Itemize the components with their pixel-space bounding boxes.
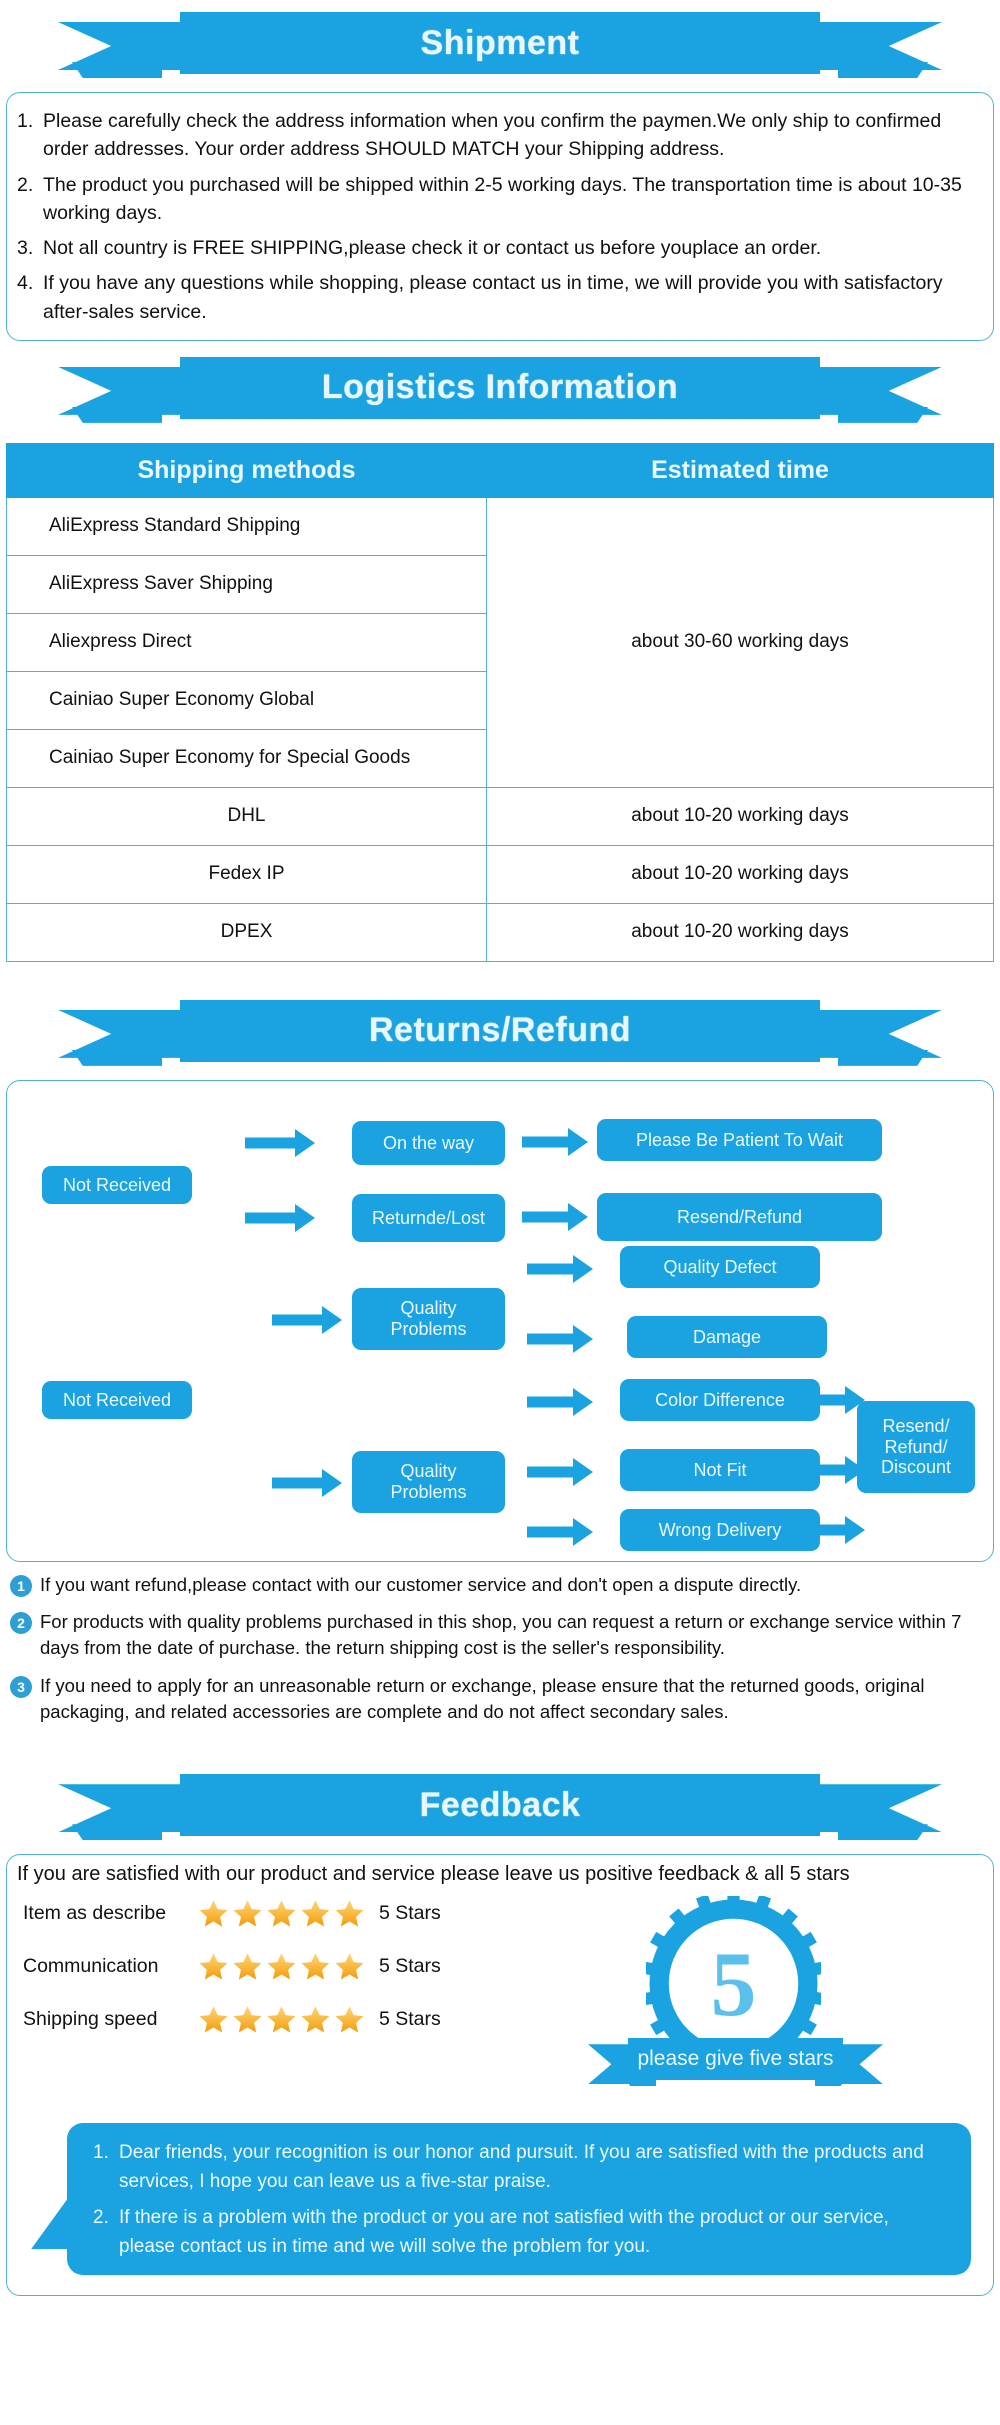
flow-node-quality-problems-2: Quality Problems [352,1451,505,1513]
ribbon-fold-right-icon [838,1050,928,1066]
returns-flow-card: Not Received Not Received On the way Ret… [6,1080,994,1562]
table-header-row: Shipping methods Estimated time [7,443,994,497]
arrow-right-icon [245,1129,317,1157]
star-icon [300,1951,331,1982]
star-icon [232,1898,263,1929]
flow-node-not-fit: Not Fit [620,1449,820,1491]
list-item: Not all country is FREE SHIPPING,please … [17,234,979,262]
cell-method: Aliexpress Direct [7,613,487,671]
cell-time: about 10-20 working days [487,903,994,961]
logistics-banner-plate: Logistics Information [180,357,820,419]
shipment-banner: Shipment [0,0,1000,92]
arrow-right-icon [272,1306,344,1334]
shipment-card: Please carefully check the address infor… [6,92,994,341]
ribbon-fold-right-icon [838,1824,928,1840]
star-icon [334,1898,365,1929]
star-icon [300,1898,331,1929]
rating-value: 5 Stars [379,1955,441,1978]
rating-label: Item as describe [23,1902,198,1925]
ribbon-fold-left-icon [72,407,162,423]
rating-value: 5 Stars [379,2008,441,2031]
rating-value: 5 Stars [379,1902,441,1925]
arrow-right-icon [527,1519,595,1545]
rating-row-item-as-describe: Item as describe 5 Stars [23,1898,560,1929]
cell-method: Fedex IP [7,845,487,903]
feedback-banner: Feedback [0,1762,1000,1854]
note-number-badge: 1 [10,1575,32,1597]
flow-node-not-received-1: Not Received [42,1166,192,1204]
returns-banner-plate: Returns/Refund [180,1000,820,1062]
table-row: AliExpress Standard Shipping about 30-60… [7,497,994,555]
logistics-banner: Logistics Information [0,345,1000,437]
shipment-section: Shipment Please carefully check the addr… [0,0,1000,341]
arrow-right-icon [527,1459,595,1485]
note-number-badge: 2 [10,1612,32,1634]
feedback-section: Feedback If you are satisfied with our p… [0,1762,1000,2296]
ribbon-fold-right-icon [838,62,928,78]
star-rating-group [198,2004,365,2035]
star-icon [198,2004,229,2035]
flow-node-color-difference: Color Difference [620,1379,820,1421]
rating-label: Communication [23,1955,198,1978]
cell-method: AliExpress Saver Shipping [7,555,487,613]
star-icon [266,1951,297,1982]
feedback-body: Item as describe 5 Stars Communication [7,1890,993,2105]
arrow-right-icon [245,1204,317,1232]
list-item: Please carefully check the address infor… [17,107,979,164]
returns-flowchart: Not Received Not Received On the way Ret… [7,1081,993,1561]
arrow-right-icon [527,1389,595,1415]
rating-label: Shipping speed [23,2008,198,2031]
returns-banner-title: Returns/Refund [369,1011,631,1050]
feedback-bubble: Dear friends, your recognition is our ho… [67,2123,971,2275]
table-row: Fedex IP about 10-20 working days [7,845,994,903]
flow-node-resend-refund-discount: Resend/ Refund/ Discount [857,1401,975,1493]
flow-node-wrong-delivery: Wrong Delivery [620,1509,820,1551]
star-icon [198,1951,229,1982]
feedback-banner-title: Feedback [420,1786,581,1825]
star-icon [266,1898,297,1929]
list-item: Dear friends, your recognition is our ho… [93,2139,949,2196]
star-icon [232,2004,263,2035]
arrow-right-icon [522,1129,590,1155]
flow-node-quality-defect: Quality Defect [620,1246,820,1288]
arrow-right-icon [527,1326,595,1352]
flow-node-not-received-2: Not Received [42,1381,192,1419]
rating-row-communication: Communication 5 Stars [23,1951,560,1982]
cell-grouped-time: about 30-60 working days [487,497,994,787]
star-icon [334,1951,365,1982]
ribbon-fold-right-icon [838,407,928,423]
cell-time: about 10-20 working days [487,845,994,903]
returns-notes: 1 If you want refund,please contact with… [6,1572,994,1725]
shipment-banner-plate: Shipment [180,12,820,74]
table-row: DPEX about 10-20 working days [7,903,994,961]
ribbon-fold-left-icon [72,62,162,78]
note-text: If you want refund,please contact with o… [40,1572,801,1598]
ribbon-fold-left-icon [72,1050,162,1066]
note-text: If you need to apply for an unreasonable… [40,1673,994,1726]
returns-section: Returns/Refund Not Received Not Received… [0,988,1000,1725]
star-icon [334,2004,365,2035]
star-rating-group [198,1898,365,1929]
column-header-estimated-time: Estimated time [487,443,994,497]
cell-method: Cainiao Super Economy Global [7,671,487,729]
arrow-right-icon [527,1256,595,1282]
flow-node-returned-lost: Returnde/Lost [352,1194,505,1242]
table-row: DHL about 10-20 working days [7,787,994,845]
list-item: If there is a problem with the product o… [93,2204,949,2261]
shipment-banner-title: Shipment [421,24,580,63]
list-item: The product you purchased will be shippe… [17,171,979,228]
flow-node-on-the-way: On the way [352,1121,505,1165]
flow-node-resend-refund: Resend/Refund [597,1193,882,1241]
star-icon [266,2004,297,2035]
note-item: 3 If you need to apply for an unreasonab… [6,1673,994,1726]
feedback-bubble-wrap: Dear friends, your recognition is our ho… [67,2123,971,2275]
note-item: 1 If you want refund,please contact with… [6,1572,994,1598]
cell-time: about 10-20 working days [487,787,994,845]
feedback-ratings: Item as describe 5 Stars Communication [15,1890,560,2105]
cell-method: AliExpress Standard Shipping [7,497,487,555]
five-stars-ribbon-text: please give five stars [628,2038,843,2080]
arrow-right-icon [815,1517,867,1543]
logistics-section: Logistics Information Shipping methods E… [0,345,1000,962]
star-icon [300,2004,331,2035]
star-icon [232,1951,263,1982]
ribbon-fold-left-icon [72,1824,162,1840]
list-item: If you have any questions while shopping… [17,269,979,326]
arrow-right-icon [272,1469,344,1497]
logistics-table: Shipping methods Estimated time AliExpre… [6,443,994,962]
logistics-banner-title: Logistics Information [322,368,678,407]
five-stars-ribbon: please give five stars [588,2038,883,2090]
note-text: For products with quality problems purch… [40,1609,994,1662]
cell-method: DHL [7,787,487,845]
note-number-badge: 3 [10,1676,32,1698]
cell-method: DPEX [7,903,487,961]
feedback-card: If you are satisfied with our product an… [6,1854,994,2296]
feedback-intro-text: If you are satisfied with our product an… [7,1855,993,1890]
returns-banner: Returns/Refund [0,988,1000,1080]
flow-node-quality-problems-1: Quality Problems [352,1288,505,1350]
flow-node-please-be-patient: Please Be Patient To Wait [597,1119,882,1161]
feedback-badge: 5 please give five stars [560,1890,985,2105]
column-header-shipping-methods: Shipping methods [7,443,487,497]
rating-row-shipping-speed: Shipping speed 5 Stars [23,2004,560,2035]
arrow-right-icon [522,1204,590,1230]
flow-node-damage: Damage [627,1316,827,1358]
cell-method: Cainiao Super Economy for Special Goods [7,729,487,787]
star-rating-group [198,1951,365,1982]
feedback-banner-plate: Feedback [180,1774,820,1836]
star-icon [198,1898,229,1929]
note-item: 2 For products with quality problems pur… [6,1609,994,1662]
shipment-list: Please carefully check the address infor… [7,107,993,326]
